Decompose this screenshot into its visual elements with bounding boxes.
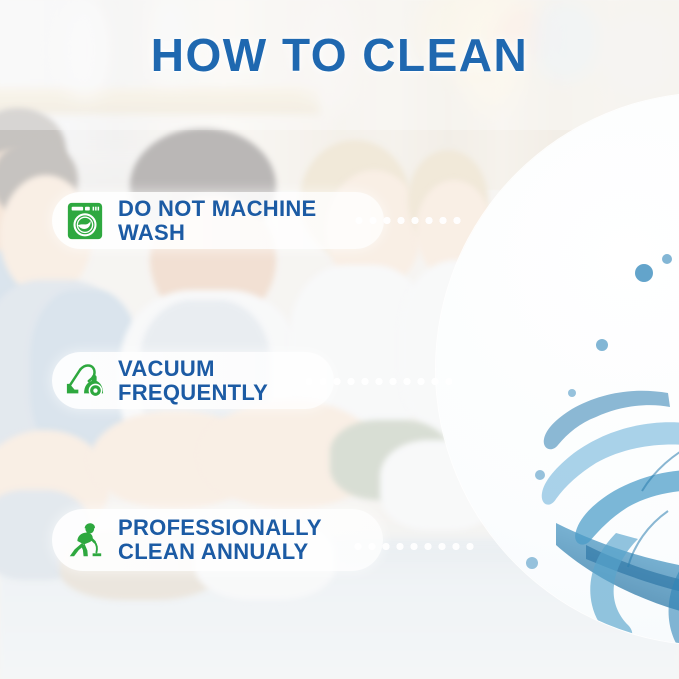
page-title: HOW TO CLEAN [0, 28, 679, 82]
badge-label: VACUUM FREQUENTLY [118, 357, 268, 405]
vacuum-cleaner-icon [64, 360, 106, 402]
person-vacuuming-icon [64, 519, 106, 561]
how-to-clean-infographic: HOW TO CLEAN [0, 0, 679, 679]
water-splash-icon [436, 93, 679, 645]
badge-label: PROFESSIONALLY CLEAN ANNUALY [118, 516, 322, 564]
badge-vacuum-frequently[interactable]: VACUUM FREQUENTLY [52, 352, 334, 409]
washing-machine-icon [64, 200, 106, 242]
badge-do-not-machine-wash[interactable]: DO NOT MACHINE WASH [52, 192, 384, 249]
badge-professionally-clean-annualy[interactable]: PROFESSIONALLY CLEAN ANNUALY [52, 509, 383, 571]
water-splash-circle [436, 93, 679, 645]
badge-label: DO NOT MACHINE WASH [118, 197, 317, 245]
